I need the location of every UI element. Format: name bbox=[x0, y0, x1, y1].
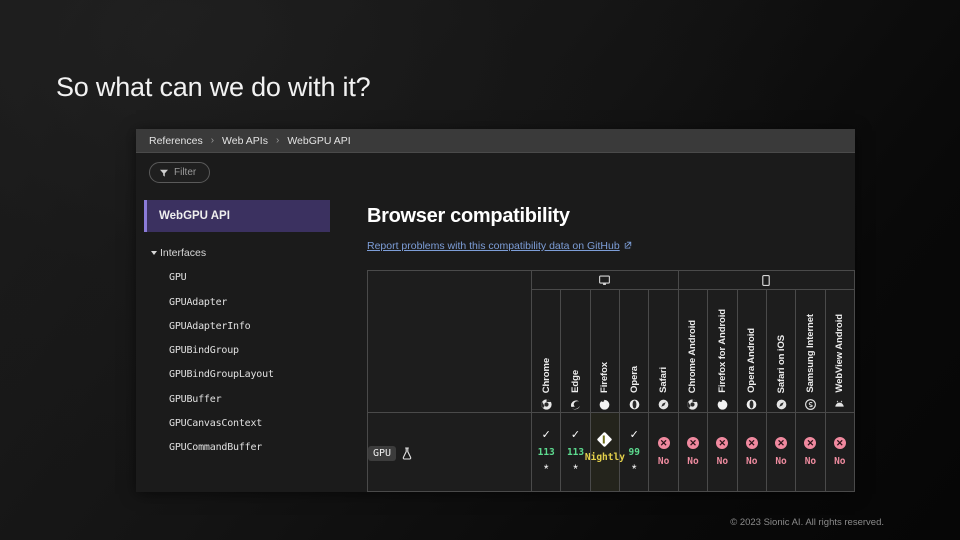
support-cell-firefox[interactable]: Nightly bbox=[590, 413, 619, 492]
browser-header-safari: Safari bbox=[649, 290, 678, 413]
monitor-icon bbox=[532, 275, 678, 286]
chrome-icon bbox=[687, 397, 698, 408]
sidebar-group-interfaces[interactable]: Interfaces bbox=[144, 247, 343, 259]
samsung-internet-icon bbox=[805, 397, 816, 408]
browser-header-firefox: Firefox bbox=[590, 290, 619, 413]
browser-label-chrome-android: Chrome Android bbox=[687, 320, 698, 393]
firefox-icon bbox=[599, 397, 610, 408]
support-no-icon: ✕ bbox=[804, 437, 816, 449]
browser-label-samsung-internet: Samsung Internet bbox=[805, 314, 816, 393]
support-cell-chrome[interactable]: ✓ 113 * bbox=[532, 413, 561, 492]
sidebar-item-gpubindgrouplayout[interactable]: GPUBindGroupLayout bbox=[144, 369, 343, 380]
support-partial-icon bbox=[597, 432, 613, 448]
sidebar-item-gpu[interactable]: GPU bbox=[144, 272, 343, 283]
browser-label-safari: Safari bbox=[658, 367, 669, 393]
device-group-desktop bbox=[532, 271, 679, 290]
support-cell-safari-on-ios[interactable]: ✕ No bbox=[766, 413, 795, 492]
sidebar: WebGPU API Interfaces GPU GPUAdapter GPU… bbox=[136, 195, 343, 492]
browser-label-chrome: Chrome bbox=[541, 358, 552, 393]
support-version: No bbox=[717, 456, 728, 467]
support-cell-samsung-internet[interactable]: ✕ No bbox=[796, 413, 825, 492]
filter-row: Filter bbox=[136, 153, 855, 195]
support-version: No bbox=[746, 456, 757, 467]
breadcrumb-separator: › bbox=[276, 135, 279, 146]
browser-header-edge: Edge bbox=[561, 290, 590, 413]
support-no-icon: ✕ bbox=[716, 437, 728, 449]
support-footnote: * bbox=[573, 465, 578, 473]
browser-label-edge: Edge bbox=[570, 370, 581, 393]
support-no-icon: ✕ bbox=[834, 437, 846, 449]
report-link-label: Report problems with this compatibility … bbox=[367, 240, 620, 252]
sidebar-item-gpucanvascontext[interactable]: GPUCanvasContext bbox=[144, 418, 343, 429]
support-cell-chrome-android[interactable]: ✕ No bbox=[678, 413, 707, 492]
breadcrumb-item-web-apis[interactable]: Web APIs bbox=[222, 135, 268, 147]
support-no-icon: ✕ bbox=[746, 437, 758, 449]
support-footnote: * bbox=[632, 465, 637, 473]
browser-label-safari-on-ios: Safari on iOS bbox=[776, 335, 787, 393]
sidebar-item-gpuadapterinfo[interactable]: GPUAdapterInfo bbox=[144, 321, 343, 332]
phone-icon bbox=[679, 275, 854, 286]
browser-header-opera: Opera bbox=[620, 290, 649, 413]
support-version: 113 bbox=[567, 447, 584, 458]
support-cell-webview-android[interactable]: ✕ No bbox=[825, 413, 854, 492]
support-version: Nightly bbox=[585, 452, 625, 463]
slide-background: So what can we do with it? References › … bbox=[0, 0, 960, 540]
firefox-icon bbox=[717, 397, 728, 408]
sidebar-item-gpubuffer[interactable]: GPUBuffer bbox=[144, 394, 343, 405]
browser-header-samsung-internet: Samsung Internet bbox=[796, 290, 825, 413]
copyright-footer: © 2023 Sionic AI. All rights reserved. bbox=[730, 517, 884, 528]
support-version: 113 bbox=[538, 447, 555, 458]
browser-label-webview-android: WebView Android bbox=[834, 314, 845, 393]
support-version: No bbox=[658, 456, 669, 467]
webview-icon bbox=[834, 397, 845, 408]
external-link-icon bbox=[624, 241, 632, 251]
sidebar-item-webgpu-api[interactable]: WebGPU API bbox=[144, 200, 330, 232]
support-check-icon: ✓ bbox=[571, 431, 580, 440]
report-problems-link[interactable]: Report problems with this compatibility … bbox=[367, 240, 632, 252]
browser-label-opera: Opera bbox=[629, 366, 640, 393]
opera-icon bbox=[629, 397, 640, 408]
device-group-header-row bbox=[368, 271, 855, 290]
support-no-icon: ✕ bbox=[658, 437, 670, 449]
breadcrumb-separator: › bbox=[211, 135, 214, 146]
safari-icon bbox=[776, 397, 787, 408]
sidebar-current-label: WebGPU API bbox=[159, 210, 230, 222]
filter-label: Filter bbox=[174, 167, 196, 178]
support-footnote: * bbox=[544, 465, 549, 473]
device-group-mobile bbox=[678, 271, 854, 290]
browser-compatibility-table: Chrome Edge bbox=[367, 270, 855, 492]
sidebar-item-gpuadapter[interactable]: GPUAdapter bbox=[144, 297, 343, 308]
support-check-icon: ✓ bbox=[542, 431, 551, 440]
browser-label-opera-android: Opera Android bbox=[746, 328, 757, 393]
mdn-screenshot-panel: References › Web APIs › WebGPU API Filte… bbox=[136, 129, 855, 492]
support-cell-opera-android[interactable]: ✕ No bbox=[737, 413, 766, 492]
support-no-icon: ✕ bbox=[687, 437, 699, 449]
chevron-down-icon bbox=[151, 251, 157, 255]
panel-body: WebGPU API Interfaces GPU GPUAdapter GPU… bbox=[136, 195, 855, 492]
safari-icon bbox=[658, 397, 669, 408]
sidebar-item-gpucommandbuffer[interactable]: GPUCommandBuffer bbox=[144, 442, 343, 453]
section-heading: Browser compatibility bbox=[367, 205, 855, 228]
browser-header-safari-on-ios: Safari on iOS bbox=[766, 290, 795, 413]
sidebar-item-gpubindgroup[interactable]: GPUBindGroup bbox=[144, 345, 343, 356]
browser-header-chrome: Chrome bbox=[532, 290, 561, 413]
experimental-flask-icon bbox=[401, 447, 413, 460]
support-version: No bbox=[834, 456, 845, 467]
browser-header-chrome-android: Chrome Android bbox=[678, 290, 707, 413]
support-version: 99 bbox=[629, 447, 640, 458]
support-no-icon: ✕ bbox=[775, 437, 787, 449]
support-cell-safari[interactable]: ✕ No bbox=[649, 413, 678, 492]
support-check-icon: ✓ bbox=[630, 431, 639, 440]
breadcrumb-item-webgpu-api[interactable]: WebGPU API bbox=[287, 135, 350, 147]
sidebar-group-label: Interfaces bbox=[160, 247, 206, 259]
browser-header-webview-android: WebView Android bbox=[825, 290, 854, 413]
feature-badge-gpu: GPU bbox=[368, 446, 396, 461]
filter-button[interactable]: Filter bbox=[149, 162, 210, 183]
feature-cell-gpu[interactable]: GPU bbox=[368, 413, 532, 492]
content-area: Browser compatibility Report problems wi… bbox=[343, 195, 855, 492]
browser-label-firefox-for-android: Firefox for Android bbox=[717, 309, 728, 393]
breadcrumb-item-references[interactable]: References bbox=[149, 135, 203, 147]
table-row: GPU ✓ 113 bbox=[368, 413, 855, 492]
page-title: So what can we do with it? bbox=[56, 72, 370, 103]
support-cell-firefox-for-android[interactable]: ✕ No bbox=[708, 413, 737, 492]
opera-icon bbox=[746, 397, 757, 408]
browser-header-opera-android: Opera Android bbox=[737, 290, 766, 413]
edge-icon bbox=[570, 397, 581, 408]
browser-header-firefox-for-android: Firefox for Android bbox=[708, 290, 737, 413]
support-version: No bbox=[687, 456, 698, 467]
breadcrumb: References › Web APIs › WebGPU API bbox=[136, 129, 855, 153]
support-version: No bbox=[775, 456, 786, 467]
chrome-icon bbox=[541, 397, 552, 408]
browser-label-firefox: Firefox bbox=[599, 362, 610, 393]
support-version: No bbox=[805, 456, 816, 467]
feature-name-header bbox=[368, 271, 532, 413]
funnel-icon bbox=[160, 169, 168, 177]
